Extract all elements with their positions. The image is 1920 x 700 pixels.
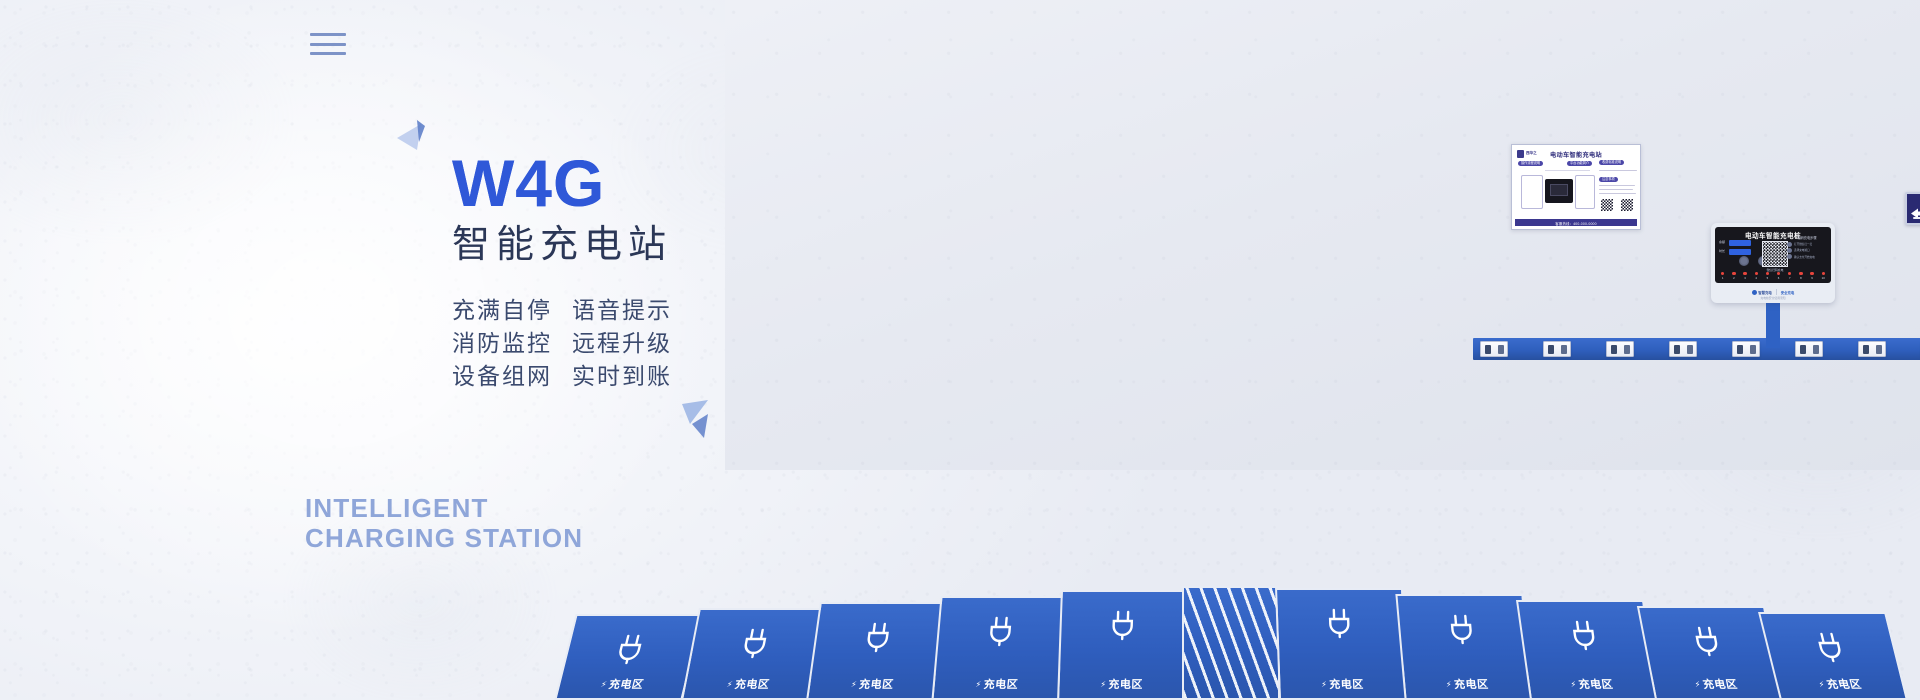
bay-label-7: ⚡充电区 — [1445, 676, 1489, 692]
poster-title: 电动车智能充电站 — [1515, 150, 1637, 159]
port-number: 4 — [1755, 276, 1758, 280]
socket-prong-a — [1548, 345, 1554, 354]
socket-6[interactable] — [1858, 341, 1886, 357]
page-subtitle: 智能充电站 — [452, 224, 752, 268]
socket-prong-b — [1561, 345, 1567, 354]
pile-subbrand: 安全充电 — [1781, 290, 1795, 295]
speaker-icon — [1739, 256, 1749, 266]
port-number: 6 — [1777, 276, 1780, 280]
parking-bay-10[interactable]: ⚡充电区 — [1758, 612, 1908, 700]
led-dot — [1777, 272, 1780, 275]
poster-qr-1[interactable] — [1620, 198, 1634, 212]
charging-plug-icon — [1687, 624, 1728, 658]
socket-prong-a — [1674, 345, 1680, 354]
bolt-icon: ⚡ — [850, 680, 857, 689]
bolt-icon: ⚡ — [1321, 680, 1327, 689]
pile-display-label-0: 余额 — [1719, 241, 1725, 244]
poster-textline-2 — [1599, 189, 1633, 190]
port-number: 10 — [1822, 276, 1825, 280]
pile-step-2: 确认支付开始充电 — [1787, 254, 1827, 259]
parking-bay-3[interactable]: ⚡充电区 — [931, 596, 1068, 700]
bolt-icon: ⚡ — [1100, 680, 1106, 689]
decor-arrow-top — [395, 120, 431, 164]
poster-footer: 客服热线：400-000-0000 — [1515, 219, 1637, 226]
pile-footer: 智慧充电 安全充电 充电桩安全使用须知 — [1715, 286, 1831, 303]
port-indicator-8[interactable]: 9 — [1810, 272, 1813, 280]
charging-plug-icon — [860, 620, 899, 654]
step-bullet-icon — [1787, 254, 1792, 259]
pile-panel: 电动车智能充电桩 余额 时长 微信扫码充电 扫码充电步骤 打开微信扫一扫 — [1715, 227, 1831, 283]
bay-label-8: ⚡充电区 — [1569, 676, 1614, 692]
pile-step-1: 选择充电端口 — [1787, 248, 1827, 253]
english-line-1: INTELLIGENT — [305, 493, 583, 523]
sign-underline — [1913, 217, 1920, 220]
direction-sign[interactable]: 充电区 充电区 — [1905, 192, 1920, 225]
port-number: 3 — [1743, 276, 1746, 280]
pile-brand-text: 智慧充电 — [1758, 290, 1772, 295]
bay-label-text: 充电区 — [607, 676, 645, 692]
poster-content: 西华之 电动车智能充电站 操作流程说明 平台功能简介 收费标准说明 注意事项 — [1515, 148, 1637, 226]
bay-label-text: 充电区 — [1701, 676, 1739, 692]
port-indicator-4[interactable]: 5 — [1766, 272, 1769, 280]
led-dot — [1788, 272, 1791, 275]
illustration-scene: 西华之 电动车智能充电站 操作流程说明 平台功能简介 收费标准说明 注意事项 — [725, 0, 1920, 700]
bay-label-text: 充电区 — [1577, 676, 1614, 692]
led-dot — [1810, 272, 1813, 275]
socket-prong-a — [1485, 345, 1491, 354]
charging-plug-icon — [983, 614, 1020, 648]
poster-tag-2: 收费标准说明 — [1599, 160, 1624, 165]
parking-bay-7[interactable]: ⚡充电区 — [1395, 594, 1532, 700]
port-number: 1 — [1721, 276, 1724, 280]
bolt-icon: ⚡ — [1446, 680, 1453, 689]
english-line-2: CHARGING STATION — [305, 523, 583, 553]
parking-bay-2[interactable]: ⚡充电区 — [806, 602, 948, 700]
port-indicator-1[interactable]: 2 — [1732, 272, 1735, 280]
socket-4[interactable] — [1732, 341, 1760, 357]
socket-3[interactable] — [1669, 341, 1697, 357]
hero-text-block: W4G 智能充电站 — [452, 150, 752, 268]
poster-flow-left — [1521, 175, 1543, 209]
feature-0-1: 语音提示 — [572, 294, 692, 327]
bolt-icon: ⚡ — [1694, 680, 1702, 689]
charging-plug-icon — [736, 626, 777, 660]
bay-label-9: ⚡充电区 — [1693, 676, 1739, 692]
port-number: 8 — [1799, 276, 1802, 280]
bay-label-text: 充电区 — [1108, 676, 1143, 692]
poster-footer-text: 客服热线：400-000-0000 — [1555, 221, 1596, 226]
step-bullet-icon — [1787, 242, 1792, 247]
feature-row-1: 消防监控 远程升级 — [452, 327, 692, 360]
pile-steps-header: 扫码充电步骤 — [1787, 235, 1827, 240]
charging-plug-icon — [1106, 608, 1141, 642]
socket-prong-b — [1687, 345, 1693, 354]
bolt-icon: ⚡ — [600, 680, 608, 689]
menu-line-2 — [310, 43, 346, 46]
poster-flow-right — [1575, 175, 1595, 209]
bay-label-3: ⚡充电区 — [975, 676, 1019, 692]
bay-label-0: ⚡充电区 — [599, 676, 646, 692]
pile-steps: 扫码充电步骤 打开微信扫一扫 选择充电端口 确认支付开始充电 — [1787, 235, 1827, 261]
poster-divider — [1545, 170, 1590, 171]
port-indicator-3[interactable]: 4 — [1755, 272, 1758, 280]
port-indicator-9[interactable]: 10 — [1822, 272, 1825, 280]
decor-arrow-bottom — [678, 398, 716, 444]
pile-port-indicators: 1 2 3 4 5 6 7 8 9 10 — [1721, 272, 1825, 280]
bay-label-text: 充电区 — [983, 676, 1019, 692]
poster-qr-0[interactable] — [1600, 198, 1614, 212]
pile-subbrand-text: 安全充电 — [1781, 290, 1795, 295]
poster-device-screen — [1550, 184, 1568, 196]
poster-textline-3 — [1599, 193, 1636, 194]
parking-bay-0[interactable]: ⚡充电区 — [554, 614, 703, 700]
bay-label-4: ⚡充电区 — [1100, 676, 1143, 692]
feature-0-0: 充满自停 — [452, 294, 572, 327]
pile-brand-row: 智慧充电 安全充电 — [1752, 289, 1795, 295]
pile-step-0: 打开微信扫一扫 — [1787, 242, 1827, 247]
feature-1-1: 远程升级 — [572, 327, 692, 360]
brand-dot-icon — [1752, 290, 1757, 295]
charging-plug-icon — [1810, 630, 1852, 664]
socket-0[interactable] — [1480, 341, 1508, 357]
port-indicator-7[interactable]: 8 — [1799, 272, 1802, 280]
feature-row-0: 充满自停 语音提示 — [452, 294, 692, 327]
poster-board[interactable]: 西华之 电动车智能充电站 操作流程说明 平台功能简介 收费标准说明 注意事项 — [1511, 144, 1641, 230]
socket-prong-b — [1876, 345, 1882, 354]
charging-plug-icon — [610, 632, 652, 666]
english-caption: INTELLIGENT CHARGING STATION — [305, 493, 583, 553]
bay-label-6: ⚡充电区 — [1321, 676, 1364, 692]
bolt-icon: ⚡ — [726, 680, 734, 689]
page-title: W4G — [452, 150, 752, 216]
pile-post — [1766, 300, 1780, 348]
socket-2[interactable] — [1606, 341, 1634, 357]
pile-step-text: 选择充电端口 — [1794, 248, 1810, 252]
poster-textline-1 — [1599, 185, 1635, 186]
led-dot — [1766, 272, 1769, 275]
bay-label-text: 充电区 — [1825, 676, 1863, 692]
parking-bay-8[interactable]: ⚡充电区 — [1516, 600, 1658, 700]
poster-tag-1: 平台功能简介 — [1567, 161, 1592, 166]
menu-line-1 — [310, 33, 346, 36]
pile-brand: 智慧充电 — [1752, 290, 1772, 295]
pile-display-0 — [1729, 240, 1751, 246]
parking-bay-4[interactable]: ⚡充电区 — [1057, 590, 1189, 700]
parking-bay-6[interactable]: ⚡充电区 — [1275, 588, 1407, 700]
pile-step-text: 打开微信扫一扫 — [1794, 242, 1812, 246]
pile-qr-code[interactable] — [1762, 241, 1788, 267]
led-dot — [1721, 272, 1724, 275]
port-number: 7 — [1788, 276, 1791, 280]
led-dot — [1732, 272, 1735, 275]
hamburger-menu-button[interactable] — [310, 33, 346, 55]
pile-display-label-1: 时长 — [1719, 250, 1725, 253]
charging-plug-icon — [1566, 618, 1605, 652]
poster-tag-0: 操作流程说明 — [1518, 161, 1543, 166]
bay-label-text: 充电区 — [1329, 676, 1364, 692]
bay-label-2: ⚡充电区 — [850, 676, 895, 692]
bolt-icon: ⚡ — [1570, 680, 1577, 689]
parking-walkway-hatch — [1182, 586, 1280, 700]
port-number: 5 — [1766, 276, 1769, 280]
feature-row-2: 设备组网 实时到账 — [452, 360, 692, 393]
hero-banner: 西华之 电动车智能充电站 操作流程说明 平台功能简介 收费标准说明 注意事项 — [0, 0, 1920, 700]
port-indicator-6[interactable]: 7 — [1788, 272, 1791, 280]
pile-step-text: 确认支付开始充电 — [1794, 255, 1815, 259]
charging-plug-icon — [1444, 612, 1481, 646]
led-dot — [1799, 272, 1802, 275]
socket-prong-a — [1863, 345, 1869, 354]
feature-1-0: 消防监控 — [452, 327, 572, 360]
socket-1[interactable] — [1543, 341, 1571, 357]
bay-label-10: ⚡充电区 — [1817, 676, 1864, 692]
bay-label-1: ⚡充电区 — [725, 676, 771, 692]
led-dot — [1743, 272, 1746, 275]
brand-separator — [1776, 289, 1777, 295]
pile-display-1 — [1729, 249, 1751, 255]
socket-5[interactable] — [1795, 341, 1823, 357]
poster-tag-3: 注意事项 — [1599, 177, 1618, 182]
bay-label-text: 充电区 — [858, 676, 895, 692]
port-number: 9 — [1810, 276, 1813, 280]
port-indicator-0[interactable]: 1 — [1721, 272, 1724, 280]
socket-prong-a — [1737, 345, 1743, 354]
poster-textline-0 — [1599, 170, 1637, 171]
pile-note: 充电桩安全使用须知 — [1760, 296, 1785, 300]
charging-plug-icon — [1323, 606, 1358, 640]
feature-2-1: 实时到账 — [572, 360, 692, 393]
feature-2-0: 设备组网 — [452, 360, 572, 393]
port-indicator-5[interactable]: 6 — [1777, 272, 1780, 280]
led-dot — [1755, 272, 1758, 275]
feature-list: 充满自停 语音提示 消防监控 远程升级 设备组网 实时到账 — [452, 294, 692, 393]
port-indicator-2[interactable]: 3 — [1743, 272, 1746, 280]
bolt-icon: ⚡ — [1818, 680, 1826, 689]
bolt-icon: ⚡ — [975, 680, 982, 689]
socket-prong-a — [1611, 345, 1617, 354]
socket-prong-b — [1750, 345, 1756, 354]
socket-prong-b — [1624, 345, 1630, 354]
parking-floor: ⚡充电区 ⚡充电区 ⚡充电区 ⚡充电区 — [725, 462, 1920, 700]
menu-line-3 — [310, 52, 346, 55]
port-number: 2 — [1732, 276, 1735, 280]
poster-device-image — [1545, 179, 1573, 203]
step-bullet-icon — [1787, 248, 1792, 253]
bay-label-text: 充电区 — [1453, 676, 1489, 692]
left-arrow-icon — [1911, 206, 1920, 217]
led-dot — [1822, 272, 1825, 275]
bay-label-text: 充电区 — [733, 676, 771, 692]
socket-prong-a — [1800, 345, 1806, 354]
socket-prong-b — [1813, 345, 1819, 354]
sign-top-text: 充电区 — [1907, 196, 1920, 201]
parking-bay-1[interactable]: ⚡充电区 — [681, 608, 827, 700]
charging-pile[interactable]: 电动车智能充电桩 余额 时长 微信扫码充电 扫码充电步骤 打开微信扫一扫 — [1711, 223, 1835, 303]
socket-prong-b — [1498, 345, 1504, 354]
